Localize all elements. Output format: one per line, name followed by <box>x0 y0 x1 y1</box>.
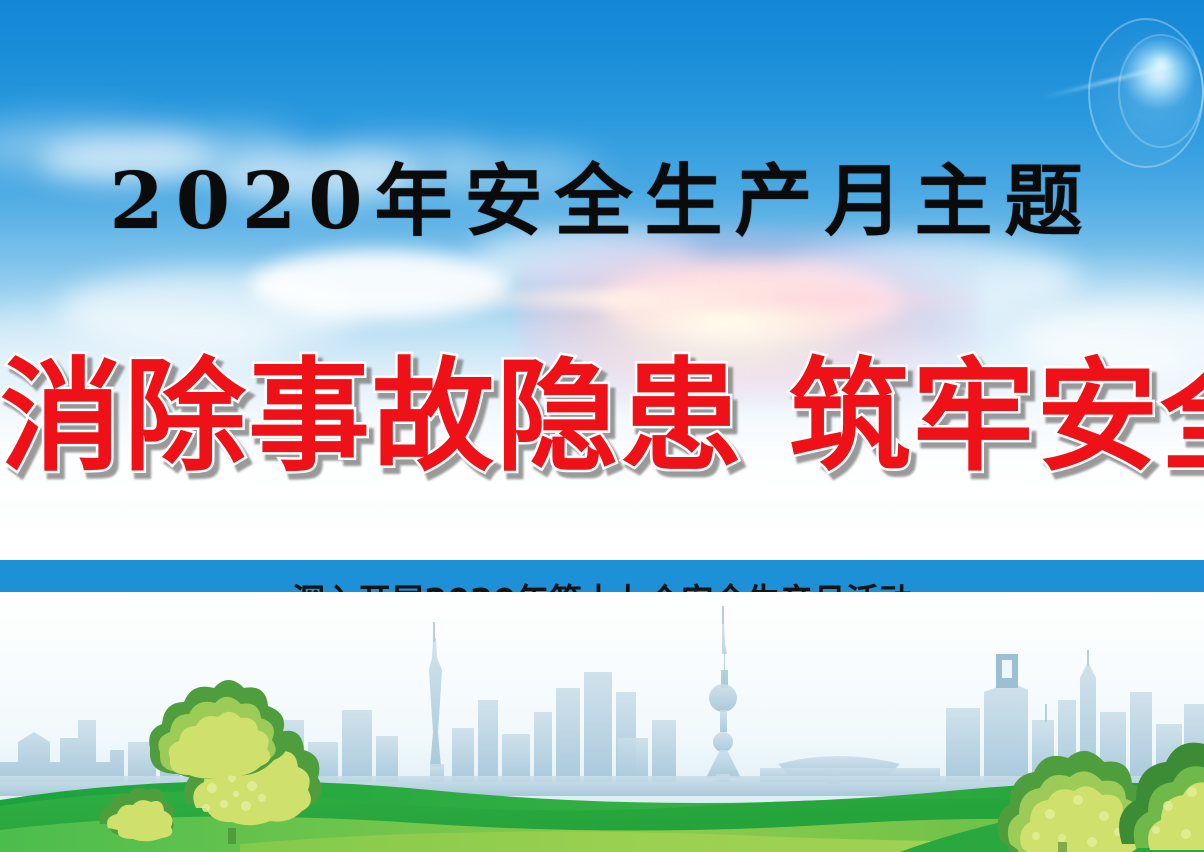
safety-month-poster: 2020年安全生产月主题 消除事故隐患 筑牢安全防线 深入开展2020年第十九个… <box>0 0 1204 852</box>
bottom-scene <box>0 592 1204 852</box>
page-title: 2020年安全生产月主题 <box>0 163 1204 241</box>
headline-slogan: 消除事故隐患 筑牢安全防线 <box>0 352 1204 484</box>
